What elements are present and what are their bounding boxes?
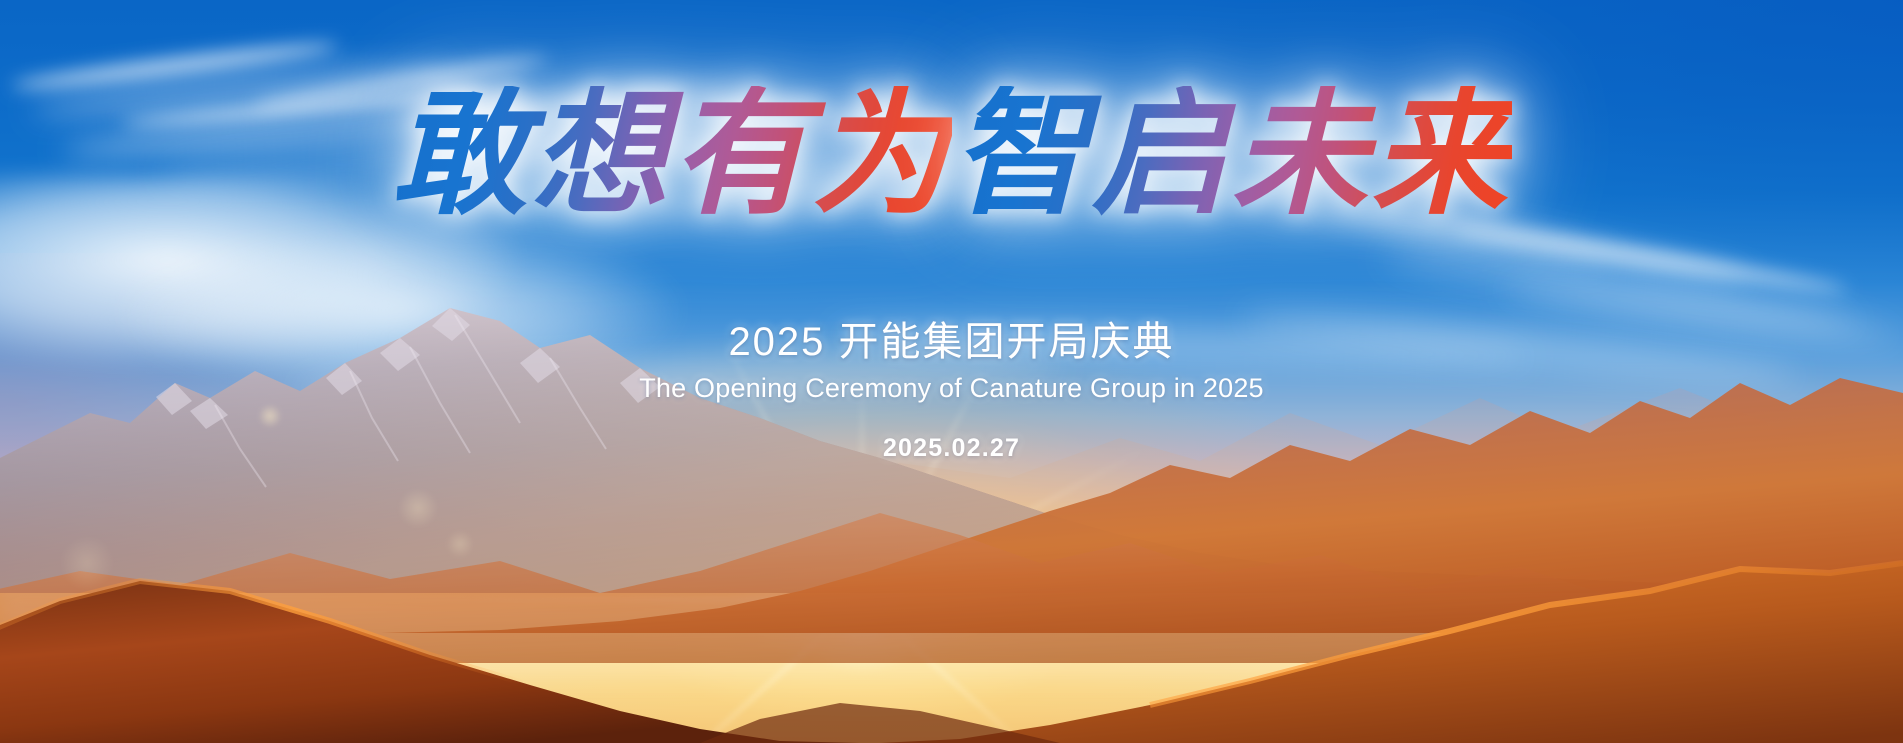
cloud-bank-left-lower: [120, 235, 740, 385]
event-banner: 敢想有为 智启未来 2025 开能集团开局庆典 The Opening Cere…: [0, 0, 1903, 743]
sky-right-deepening: [1028, 0, 1903, 416]
sun-core: [787, 525, 937, 675]
